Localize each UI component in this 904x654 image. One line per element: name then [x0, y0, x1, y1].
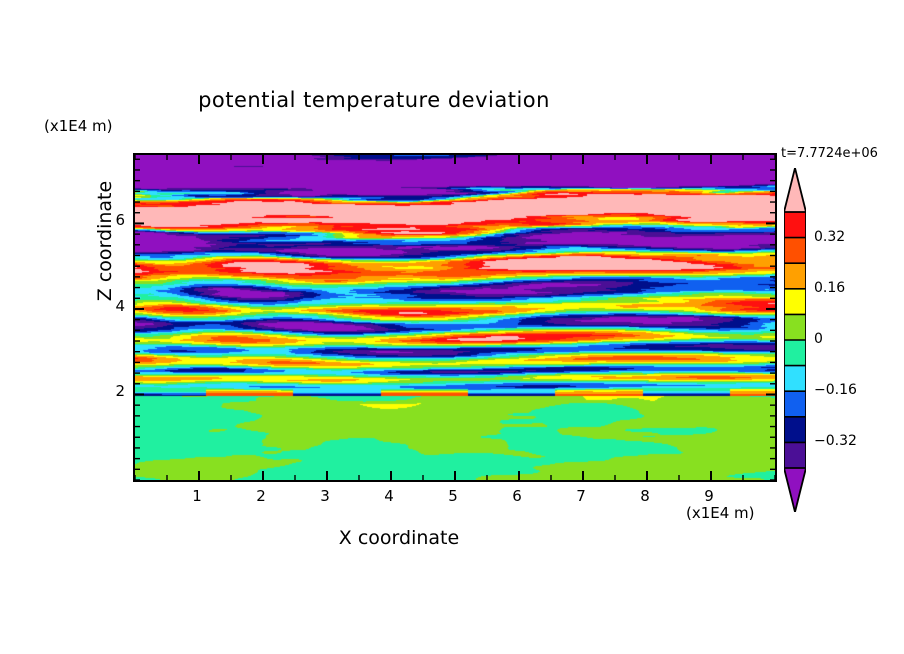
chart-title: potential temperature deviation	[0, 88, 904, 112]
contour-field	[135, 155, 775, 480]
colorbar-tick-label: 0	[814, 331, 823, 347]
y-tick-label: 6	[95, 211, 125, 229]
y-axis-title: Z coordinate	[94, 131, 116, 351]
colorbar-gradient	[784, 168, 806, 512]
x-tick-label: 5	[438, 487, 468, 505]
chart-title-text: potential temperature deviation	[198, 88, 550, 112]
x-tick-label: 9	[694, 487, 724, 505]
colorbar: 0.320.160−0.16−0.32	[784, 212, 806, 468]
colorbar-tick-label: 0.16	[814, 280, 845, 296]
x-tick-label: 4	[374, 487, 404, 505]
plot-area	[133, 153, 777, 482]
x-tick-label: 2	[246, 487, 276, 505]
colorbar-tick-label: −0.32	[814, 433, 857, 449]
x-axis-unit-label: (x1E4 m)	[686, 504, 755, 522]
y-tick-label: 4	[95, 297, 125, 315]
colorbar-tick-label: −0.16	[814, 382, 857, 398]
y-tick-label: 2	[95, 382, 125, 400]
colorbar-tick-label: 0.32	[814, 229, 845, 245]
x-tick-label: 3	[310, 487, 340, 505]
x-tick-label: 7	[566, 487, 596, 505]
time-annotation: t=7.7724e+06	[781, 146, 878, 161]
x-tick-label: 8	[630, 487, 660, 505]
x-axis-title-text: X coordinate	[339, 527, 459, 549]
x-tick-label: 6	[502, 487, 532, 505]
x-tick-label: 1	[182, 487, 212, 505]
x-axis-title: X coordinate	[0, 527, 904, 549]
figure-canvas: potential temperature deviation (x1E4 m)…	[0, 0, 904, 654]
